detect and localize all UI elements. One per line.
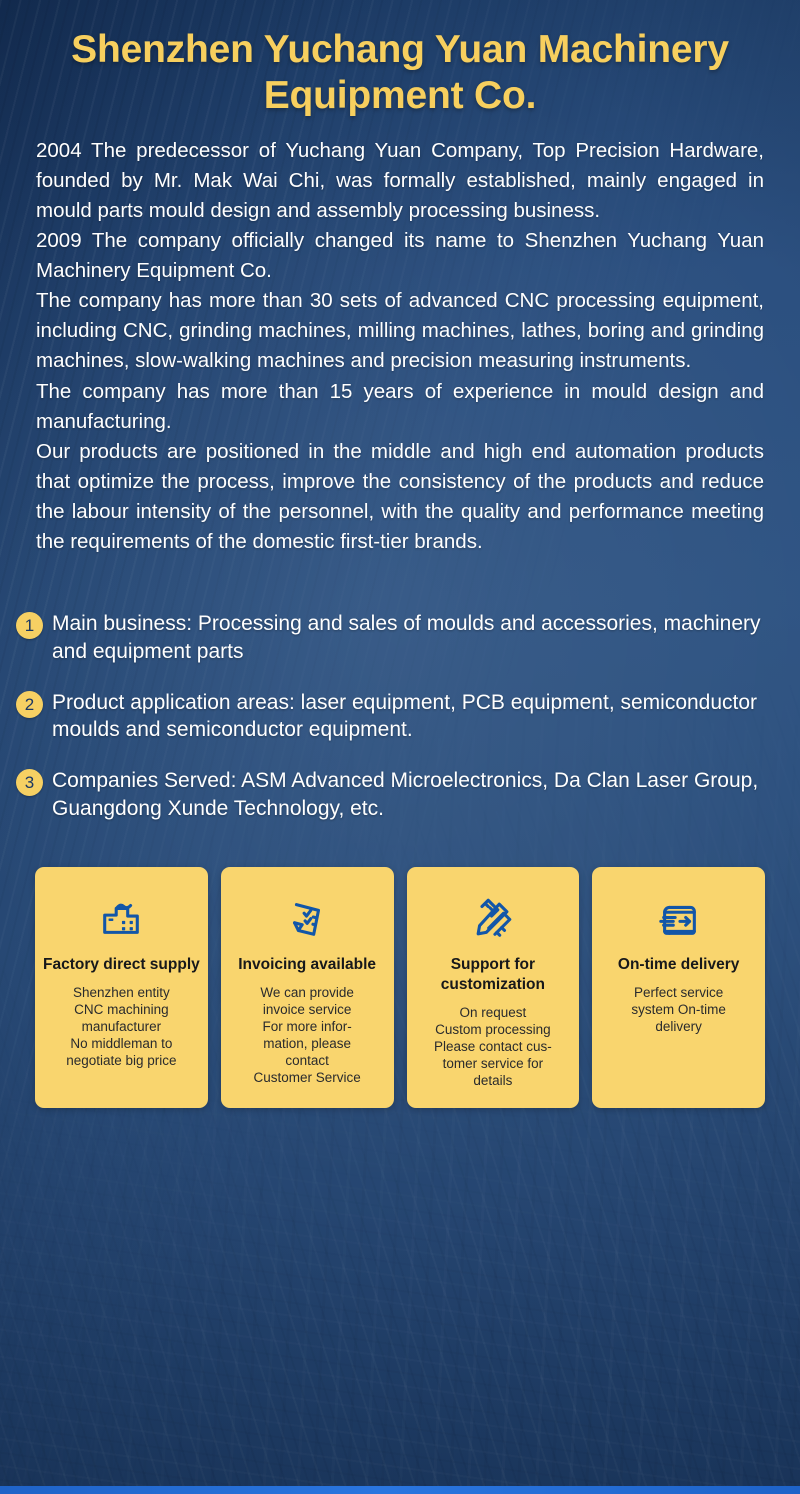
- list-item: 2 Product application areas: laser equip…: [16, 688, 778, 745]
- card-title: Support for customization: [415, 955, 572, 995]
- factory-icon: [98, 889, 144, 947]
- fast-delivery-box-icon: [656, 889, 702, 947]
- list-item-text: Companies Served: ASM Advanced Microelec…: [52, 766, 778, 823]
- description-paragraph: 2004 The predecessor of Yuchang Yuan Com…: [36, 136, 764, 226]
- card-title: Invoicing available: [238, 955, 376, 975]
- card-description: We can provide invoice service For more …: [253, 984, 360, 1086]
- card-description: On request Custom processing Please cont…: [434, 1004, 552, 1089]
- list-item: 3 Companies Served: ASM Advanced Microel…: [16, 766, 778, 823]
- feature-card-factory-direct-supply: Factory direct supply Shenzhen entity CN…: [35, 867, 208, 1108]
- list-number-badge: 3: [16, 769, 43, 796]
- bottom-accent-bar: [0, 1486, 800, 1494]
- poster-page: Shenzhen Yuchang Yuan Machinery Equipmen…: [0, 0, 800, 1494]
- poster-content: Shenzhen Yuchang Yuan Machinery Equipmen…: [0, 0, 800, 1108]
- description-paragraph: Our products are positioned in the middl…: [36, 437, 764, 557]
- feature-card-support-for-customization: Support for customization On request Cus…: [407, 867, 580, 1108]
- company-description: 2004 The predecessor of Yuchang Yuan Com…: [0, 118, 800, 556]
- title-section: Shenzhen Yuchang Yuan Machinery Equipmen…: [0, 0, 800, 118]
- list-number-badge: 2: [16, 691, 43, 718]
- list-item-text: Main business: Processing and sales of m…: [52, 609, 778, 666]
- highlights-list: 1 Main business: Processing and sales of…: [0, 557, 800, 824]
- feature-card-invoicing-available: Invoicing available We can provide invoi…: [221, 867, 394, 1108]
- invoice-document-icon: [284, 889, 330, 947]
- list-number-badge: 1: [16, 612, 43, 639]
- pencil-ruler-icon: [470, 889, 516, 947]
- description-paragraph: 2009 The company officially changed its …: [36, 226, 764, 286]
- feature-cards: Factory direct supply Shenzhen entity CN…: [0, 823, 800, 1108]
- list-item-text: Product application areas: laser equipme…: [52, 688, 778, 745]
- description-paragraph: The company has more than 15 years of ex…: [36, 377, 764, 437]
- list-item: 1 Main business: Processing and sales of…: [16, 609, 778, 666]
- card-description: Shenzhen entity CNC machining manufactur…: [66, 984, 176, 1069]
- card-title: Factory direct supply: [43, 955, 200, 975]
- card-title: On-time delivery: [618, 955, 739, 975]
- page-title: Shenzhen Yuchang Yuan Machinery Equipmen…: [44, 27, 756, 118]
- card-description: Perfect service system On-time delivery: [631, 984, 726, 1035]
- description-paragraph: The company has more than 30 sets of adv…: [36, 286, 764, 376]
- feature-card-on-time-delivery: On-time delivery Perfect service system …: [592, 867, 765, 1108]
